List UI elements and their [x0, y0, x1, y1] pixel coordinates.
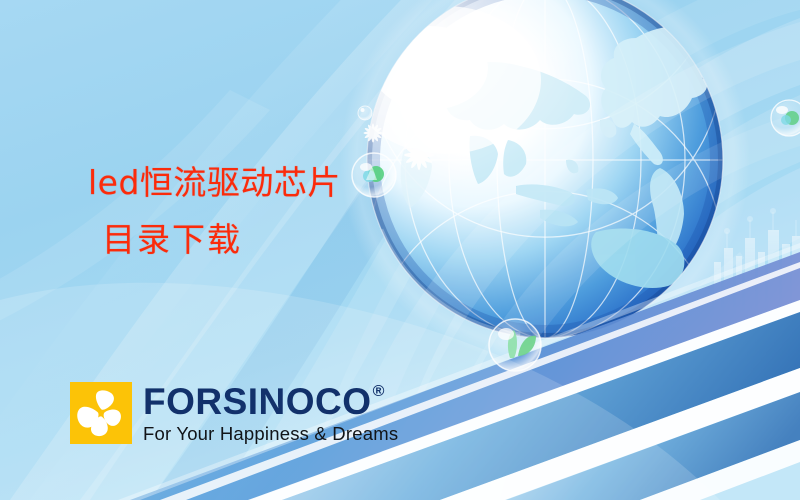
headline-line-2: 目录下载	[102, 219, 341, 262]
continents	[401, 18, 731, 305]
logo-text-block: FORSINOCO® For Your Happiness & Dreams	[143, 383, 398, 445]
flower-sparkles	[364, 124, 435, 171]
bottom-right-bands	[118, 243, 800, 500]
bubble-with-plant	[489, 319, 541, 371]
flower-sparkle-large	[404, 140, 434, 170]
city-skyline-silhouette	[660, 208, 800, 330]
headline-line-1: led恒流驱动芯片	[88, 162, 341, 205]
poster-canvas: led恒流驱动芯片 目录下载 FORSINOCO® For Your Happi…	[0, 0, 800, 500]
bubble-small-top	[358, 106, 372, 120]
four-petal-pinwheel-icon	[70, 382, 132, 444]
logo-wordmark-text: FORSINOCO	[143, 383, 372, 420]
registered-trademark-symbol: ®	[373, 384, 385, 400]
company-logo: FORSINOCO® For Your Happiness & Dreams	[70, 382, 398, 445]
bubble-with-globe	[352, 153, 396, 197]
bubble-right-edge	[771, 100, 800, 136]
logo-tagline: For Your Happiness & Dreams	[143, 423, 398, 445]
flower-sparkle-small	[364, 124, 383, 143]
logo-wordmark: FORSINOCO®	[143, 383, 398, 420]
headline: led恒流驱动芯片 目录下载	[88, 162, 341, 262]
bubbles	[352, 100, 800, 371]
world-globe	[310, 0, 750, 365]
